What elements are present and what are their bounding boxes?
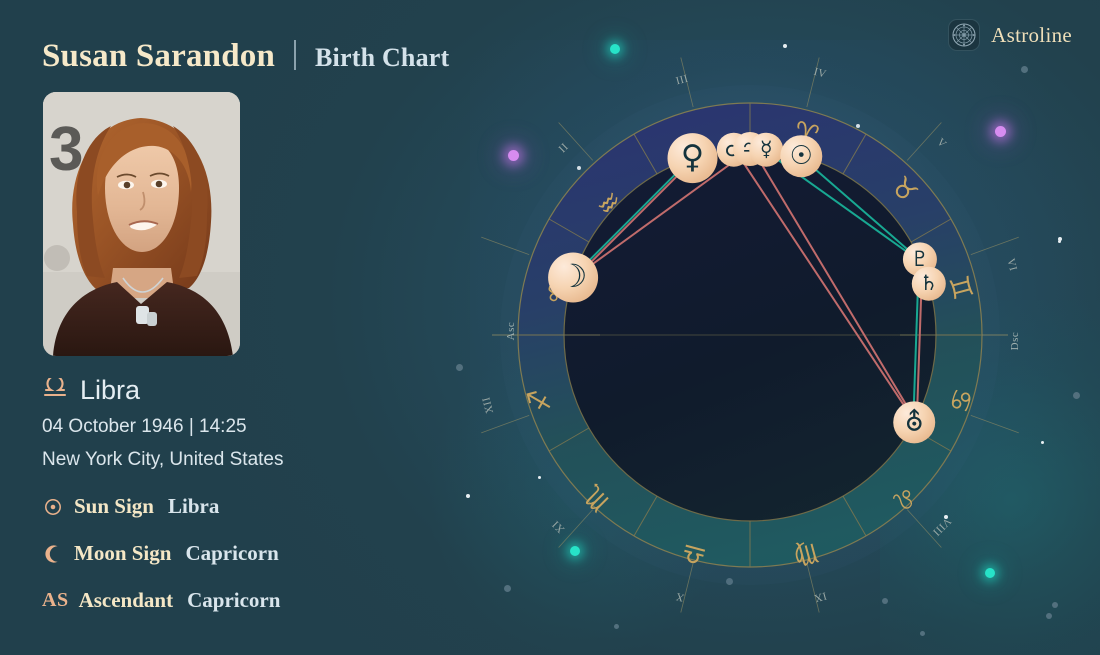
planet-glyph-venus: ♀ <box>681 138 704 176</box>
sun-sign-name: Libra <box>80 375 140 406</box>
house-numeral-II: II <box>555 140 569 154</box>
star-white <box>1058 240 1061 243</box>
house-numeral-XI: XI <box>550 518 567 535</box>
birth-chart-wheel[interactable]: Asc Dsc ♑♒♓♈♉♊♋♌♍♎♏♐ IIIIIIVVVIVIIIIXXXI… <box>470 55 1030 615</box>
house-numeral-IV: IV <box>812 66 827 81</box>
ascendant-icon: AS <box>42 589 69 612</box>
zodiac-wheel-icon <box>948 19 980 51</box>
house-numeral-XII: XII <box>480 395 496 414</box>
chart-kind-label: Birth Chart <box>315 43 449 73</box>
star-dim <box>1073 392 1080 399</box>
house-numeral-V: V <box>934 136 948 150</box>
planet-marker-saturn[interactable]: ♄ <box>912 267 946 301</box>
fact-label: Sun Sign <box>74 494 154 519</box>
house-numeral-III: III <box>674 72 689 87</box>
star-white <box>783 44 787 48</box>
brand-logo[interactable]: Astroline <box>948 19 1072 51</box>
libra-icon <box>42 378 68 403</box>
fact-label: Moon Sign <box>74 541 171 566</box>
planet-glyph-sun: ☉ <box>790 141 813 171</box>
planet-glyph-saturn: ♄ <box>919 271 938 295</box>
star-dim <box>1052 602 1058 608</box>
star-cyan <box>610 44 620 54</box>
star-dim <box>456 364 463 371</box>
star-dim <box>1046 613 1052 619</box>
house-numeral-IX: IX <box>812 589 827 604</box>
fact-moon-sign: Moon Sign Capricorn <box>42 541 279 566</box>
fact-sun-sign: Sun Sign Libra <box>42 494 219 519</box>
planet-glyph-moon: ☽ <box>559 257 588 295</box>
fact-value: Libra <box>168 494 219 519</box>
fact-ascendant: AS Ascendant Capricorn <box>42 588 280 613</box>
house-numeral-X: X <box>674 590 685 604</box>
sun-icon <box>42 498 64 516</box>
planet-marker-mercury[interactable]: ☿ <box>749 133 783 167</box>
planet-marker-sun[interactable]: ☉ <box>780 135 822 177</box>
planet-marker-moon[interactable]: ☽ <box>548 253 598 303</box>
title-divider <box>294 40 296 70</box>
sun-sign-heading: Libra <box>42 375 140 406</box>
moon-icon <box>42 544 64 564</box>
avatar: 3 <box>43 92 240 356</box>
house-numeral-VIII: VIII <box>930 515 953 538</box>
page-title: Susan Sarandon Birth Chart <box>42 36 449 75</box>
planet-glyph-mercury: ☿ <box>760 137 773 161</box>
fact-value: Capricorn <box>185 541 278 566</box>
star-dim <box>614 624 619 629</box>
planet-glyph-uranus: ⛢ <box>905 407 924 437</box>
dsc-label: Dsc <box>1009 332 1021 351</box>
star-dim <box>920 631 925 636</box>
house-numeral-VI: VI <box>1004 257 1019 272</box>
brand-name: Astroline <box>991 23 1072 48</box>
birth-datetime: 04 October 1946 | 14:25 <box>42 416 247 438</box>
asc-label: Asc <box>505 322 517 341</box>
fact-value: Capricorn <box>187 588 280 613</box>
planet-marker-venus[interactable]: ♀ <box>668 133 718 183</box>
star-white <box>1041 441 1044 444</box>
birth-place: New York City, United States <box>42 449 283 471</box>
person-name: Susan Sarandon <box>42 38 275 75</box>
planet-marker-uranus[interactable]: ⛢ <box>893 401 935 443</box>
fact-label: Ascendant <box>79 588 174 613</box>
